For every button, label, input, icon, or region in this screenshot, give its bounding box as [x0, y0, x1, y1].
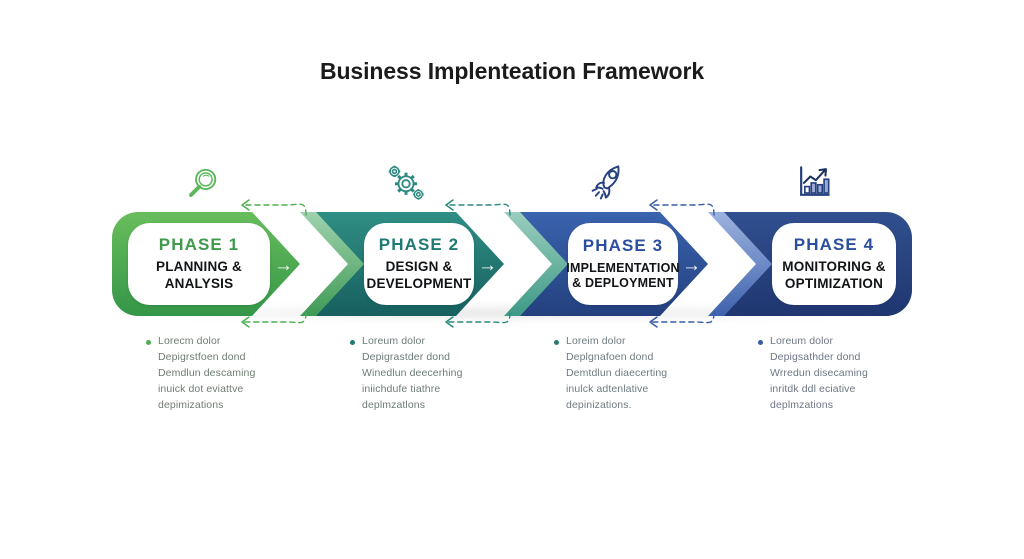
page-title: Business Implenteation Framework	[0, 58, 1024, 85]
phase-title-1: PLANNING & ANALYSIS	[156, 259, 242, 292]
growth-chart-icon	[786, 157, 842, 207]
connector-chevron-glyph-3: ›	[741, 256, 747, 275]
phase-tip-arrow-1: →	[274, 256, 293, 275]
bullet-item: Loreim dolor Deplgnafoen dond Demtdlun d…	[554, 334, 744, 414]
bullet-item: Loreum dolor Depigrastder dond Winedlun …	[350, 334, 540, 414]
phase-title-2: DESIGN & DEVELOPMENT	[367, 259, 472, 292]
bullet-text-3: Loreim dolor Deplgnafoen dond Demtdlun d…	[566, 334, 667, 414]
bullet-text-2: Loreum dolor Depigrastder dond Winedlun …	[362, 334, 463, 414]
bullet-item: Loreum dolor Depigsathder dond Wrredun d…	[758, 334, 948, 414]
bullet-item: Lorecm dolor Depigrstfoen dond Demdlun d…	[146, 334, 336, 414]
phase-title-4: MONITORING & OPTIMIZATION	[782, 259, 885, 292]
bullet-column-4: Loreum dolor Depigsathder dond Wrredun d…	[758, 334, 948, 414]
bullet-dot-icon	[146, 340, 151, 345]
bullet-column-1: Lorecm dolor Depigrstfoen dond Demdlun d…	[146, 334, 336, 414]
bullet-dot-icon	[758, 340, 763, 345]
phase-title-3: IMPLEMENTATION & DEPLOYMENT	[566, 261, 679, 292]
phase-number-3: PHASE 3	[583, 237, 663, 256]
phase-tip-arrow-2: →	[478, 256, 497, 275]
phase-band: PHASE 1 PLANNING & ANALYSIS PHASE 2 DESI…	[0, 212, 1024, 316]
connector-chevron-glyph-1: ›	[333, 256, 339, 275]
bullet-dot-icon	[554, 340, 559, 345]
bullet-column-2: Loreum dolor Depigrastder dond Winedlun …	[350, 334, 540, 414]
phase-card-4[interactable]: PHASE 4 MONITORING & OPTIMIZATION	[724, 212, 914, 316]
bullet-column-3: Loreim dolor Deplgnafoen dond Demtdlun d…	[554, 334, 744, 414]
phase-number-1: PHASE 1	[159, 236, 239, 255]
phase-number-4: PHASE 4	[794, 236, 874, 255]
bullet-text-4: Loreum dolor Depigsathder dond Wrredun d…	[770, 334, 868, 414]
diagram-canvas: Business Implenteation Framework	[0, 0, 1024, 559]
phase-number-2: PHASE 2	[379, 236, 459, 255]
connector-chevron-glyph-2: ›	[537, 256, 543, 275]
gears-icon	[378, 157, 434, 207]
bullet-text-1: Lorecm dolor Depigrstfoen dond Demdlun d…	[158, 334, 255, 414]
magnifier-icon	[174, 159, 230, 209]
bullet-dot-icon	[350, 340, 355, 345]
rocket-icon	[582, 157, 638, 207]
phase-tip-arrow-3: →	[682, 256, 701, 275]
